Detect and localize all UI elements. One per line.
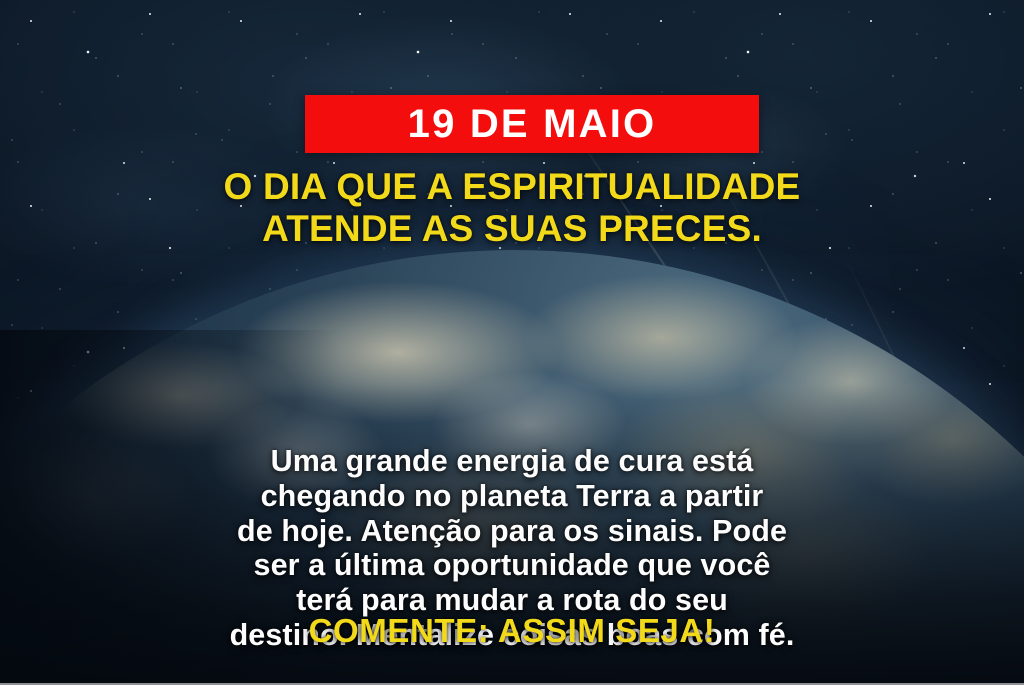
date-banner: 19 DE MAIO	[305, 95, 759, 153]
body-line-2: chegando no planeta Terra a partir	[56, 479, 968, 514]
body-line-3: de hoje. Atenção para os sinais. Pode	[56, 514, 968, 549]
call-to-action-label: COMENTE: ASSIM SEJA!	[0, 614, 1024, 647]
headline-line-2: ATENDE AS SUAS PRECES.	[46, 208, 978, 250]
spiritual-message-poster: 19 DE MAIO O DIA QUE A ESPIRITUALIDADE A…	[0, 0, 1024, 685]
headline-line-1: O DIA QUE A ESPIRITUALIDADE	[46, 166, 978, 208]
body-line-4: ser a última oportunidade que você	[56, 548, 968, 583]
headline: O DIA QUE A ESPIRITUALIDADE ATENDE AS SU…	[0, 166, 1024, 250]
body-line-1: Uma grande energia de cura está	[56, 444, 968, 479]
date-banner-label: 19 DE MAIO	[408, 104, 657, 144]
